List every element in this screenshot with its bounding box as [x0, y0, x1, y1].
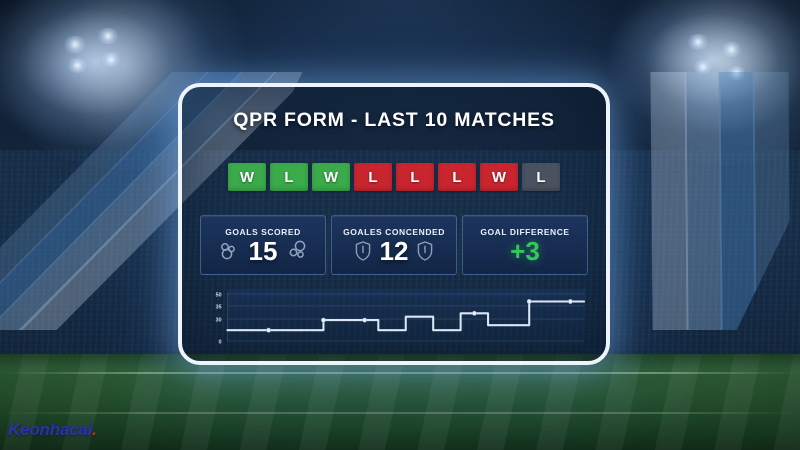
football-icon	[286, 240, 308, 262]
chart-data-point[interactable]	[321, 318, 325, 322]
chart-data-point[interactable]	[363, 318, 367, 322]
stat-card[interactable]: GOALES CONCENDED12	[331, 215, 457, 275]
stat-card-body: 15	[218, 238, 309, 264]
football-icon	[218, 240, 240, 262]
chart-ytick-labels: 5035300	[216, 292, 222, 345]
form-badge-loss[interactable]: W	[480, 163, 518, 191]
chart-data-point[interactable]	[568, 299, 572, 303]
stat-card-value: +3	[510, 238, 540, 264]
shield-icon	[355, 241, 371, 261]
chart-data-point[interactable]	[527, 299, 531, 303]
stat-card[interactable]: GOALS SCORED15	[200, 215, 326, 275]
form-badge-label: L	[536, 169, 545, 186]
chart-data-point[interactable]	[472, 311, 476, 315]
form-badge-win[interactable]: W	[228, 163, 266, 191]
chart-ytick-label: 30	[216, 317, 222, 323]
form-badge-label: L	[452, 169, 461, 186]
stat-card-label: GOALS SCORED	[225, 227, 301, 237]
form-badge-label: L	[284, 169, 293, 186]
form-badge-label: W	[240, 169, 254, 186]
stat-card-value: 15	[249, 238, 278, 264]
form-results-row: WLWLLLWL	[182, 163, 606, 191]
form-badge-win[interactable]: L	[270, 163, 308, 191]
stat-card[interactable]: GOAL DIFFERENCE+3	[462, 215, 588, 275]
stat-card-label: GOALES CONCENDED	[343, 227, 445, 237]
chart-data-point[interactable]	[267, 328, 271, 332]
form-trend-chart: 5035300	[200, 287, 588, 351]
form-badge-draw[interactable]: L	[522, 163, 560, 191]
stat-card-value: 12	[380, 238, 409, 264]
watermark-dot: .	[92, 420, 97, 439]
page-title: QPR FORM - LAST 10 MATCHES	[182, 109, 606, 132]
stats-row: GOALS SCORED15GOALES CONCENDED12GOAL DIF…	[200, 215, 588, 275]
form-badge-label: W	[492, 169, 506, 186]
stat-card-body: 12	[355, 238, 434, 264]
form-badge-label: L	[368, 169, 377, 186]
form-badge-loss[interactable]: L	[354, 163, 392, 191]
chart-ytick-label: 50	[216, 292, 222, 298]
chart-ytick-label: 0	[219, 339, 222, 345]
form-badge-label: L	[410, 169, 419, 186]
chart-ytick-label: 35	[216, 304, 222, 310]
form-badge-loss[interactable]: L	[396, 163, 434, 191]
form-panel: QPR FORM - LAST 10 MATCHES WLWLLLWL GOAL…	[178, 83, 610, 365]
form-badge-loss[interactable]: L	[438, 163, 476, 191]
stat-card-body: +3	[510, 238, 540, 264]
stat-card-label: GOAL DIFFERENCE	[480, 227, 569, 237]
form-badge-win[interactable]: W	[312, 163, 350, 191]
form-trend-svg: 5035300	[200, 287, 588, 351]
form-badge-label: W	[324, 169, 338, 186]
watermark-text: Keonhacai	[8, 420, 92, 439]
shield-icon	[417, 241, 433, 261]
site-watermark: Keonhacai.	[8, 420, 97, 440]
